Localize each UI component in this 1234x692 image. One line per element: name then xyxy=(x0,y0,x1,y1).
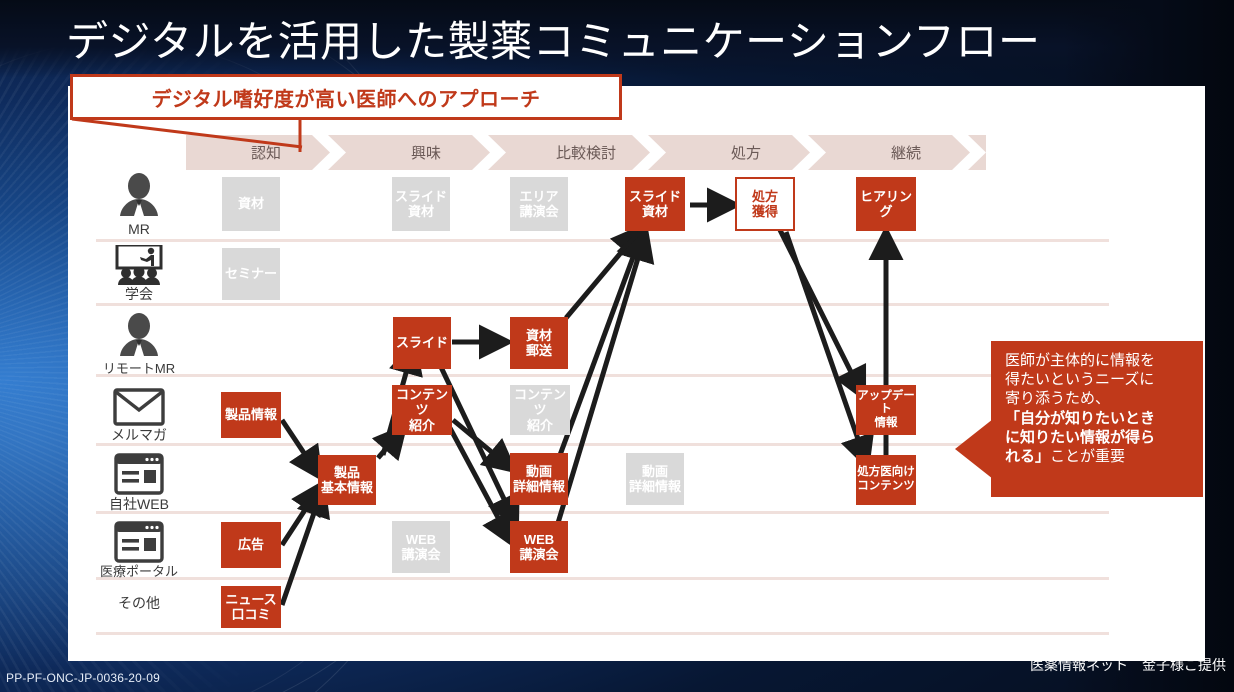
top-callout: デジタル嗜好度が高い医師へのアプローチ xyxy=(70,74,622,120)
person-icon xyxy=(96,312,182,360)
right-callout-line-2: 得たいというニーズに xyxy=(1005,370,1191,389)
browser-window-icon xyxy=(96,521,182,563)
chevron-separator-icon xyxy=(952,135,986,170)
row-separator xyxy=(96,577,1109,580)
chevron-separator-icon xyxy=(792,135,826,170)
footer-credit: 医薬情報ネット 金子様ご提供 xyxy=(1030,655,1226,675)
node-box[interactable]: WEB講演会 xyxy=(510,521,568,573)
channel-row-medical-portal: 医療ポータル xyxy=(96,521,182,578)
callout-pointer-icon xyxy=(955,419,993,479)
node-box[interactable]: 処方獲得 xyxy=(735,177,795,231)
node-box[interactable]: ヒアリング xyxy=(856,177,916,231)
node-box[interactable]: 資材郵送 xyxy=(510,317,568,369)
row-separator xyxy=(96,239,1109,242)
channel-label: 学会 xyxy=(96,287,182,301)
channel-label: MR xyxy=(96,222,182,236)
top-callout-text: デジタル嗜好度が高い医師へのアプローチ xyxy=(151,83,540,112)
slide-canvas: デジタルを活用した製薬コミュニケーションフロー 認知 興味 比較検討 処方 継続… xyxy=(0,0,1234,692)
node-box[interactable]: 広告 xyxy=(221,522,281,568)
channel-label: メルマガ xyxy=(96,428,182,442)
browser-window-icon xyxy=(96,453,182,495)
node-box[interactable]: アップデート情報 xyxy=(856,385,916,435)
node-box[interactable]: セミナー xyxy=(222,248,280,300)
channel-row-remote-mr: リモートMR xyxy=(96,312,182,375)
channel-label: 自社WEB xyxy=(96,497,182,511)
right-callout-bold-1: 「自分が知りたいとき xyxy=(1005,410,1155,427)
right-callout-line-1: 医師が主体的に情報を xyxy=(1005,351,1191,370)
node-box[interactable]: スライド資材 xyxy=(392,177,450,231)
right-callout-bold-3: れる」 xyxy=(1005,448,1050,465)
envelope-icon xyxy=(96,388,182,426)
channel-row-own-web: 自社WEB xyxy=(96,453,182,511)
right-callout-line-3: 寄り添うため、 xyxy=(1005,389,1191,408)
channel-row-mr: MR xyxy=(96,172,182,236)
node-box[interactable]: 製品情報 xyxy=(221,392,281,438)
node-box[interactable]: コンテンツ紹介 xyxy=(392,385,452,435)
presentation-audience-icon xyxy=(96,245,182,285)
channel-row-mailmag: メルマガ xyxy=(96,388,182,442)
chevron-separator-icon xyxy=(632,135,666,170)
channel-row-gakkai: 学会 xyxy=(96,245,182,301)
channel-label: 医療ポータル xyxy=(96,565,182,578)
person-icon xyxy=(96,172,182,220)
node-box[interactable]: 資材 xyxy=(222,177,280,231)
node-box[interactable]: スライド資材 xyxy=(625,177,685,231)
right-callout-bold-2: に知りたい情報が得ら xyxy=(1005,429,1155,446)
row-separator xyxy=(96,632,1109,635)
node-box[interactable]: コンテンツ紹介 xyxy=(510,385,570,435)
node-box[interactable]: 製品基本情報 xyxy=(318,455,376,505)
node-box[interactable]: スライド xyxy=(393,317,451,369)
row-separator xyxy=(96,303,1109,306)
page-title: デジタルを活用した製薬コミュニケーションフロー xyxy=(66,20,1166,64)
node-box[interactable]: 処方医向けコンテンツ xyxy=(856,455,916,505)
channel-label: その他 xyxy=(96,596,182,610)
node-box[interactable]: WEB講演会 xyxy=(392,521,450,573)
chevron-separator-icon xyxy=(472,135,506,170)
node-box[interactable]: 動画詳細情報 xyxy=(626,453,684,505)
callout-tail-top-vertical xyxy=(228,118,308,154)
node-box[interactable]: 動画詳細情報 xyxy=(510,453,568,505)
chevron-separator-icon xyxy=(312,135,346,170)
node-box[interactable]: エリア講演会 xyxy=(510,177,568,231)
right-callout-tail-text: ことが重要 xyxy=(1050,448,1125,465)
row-separator xyxy=(96,511,1109,514)
row-separator xyxy=(96,374,1109,377)
node-box[interactable]: ニュース口コミ xyxy=(221,586,281,628)
channel-label: リモートMR xyxy=(96,362,182,375)
channel-row-other: その他 xyxy=(96,594,182,610)
footer-code: PP-PF-ONC-JP-0036-20-09 xyxy=(6,671,160,685)
right-callout: 医師が主体的に情報を 得たいというニーズに 寄り添うため、 「自分が知りたいとき… xyxy=(991,341,1203,497)
